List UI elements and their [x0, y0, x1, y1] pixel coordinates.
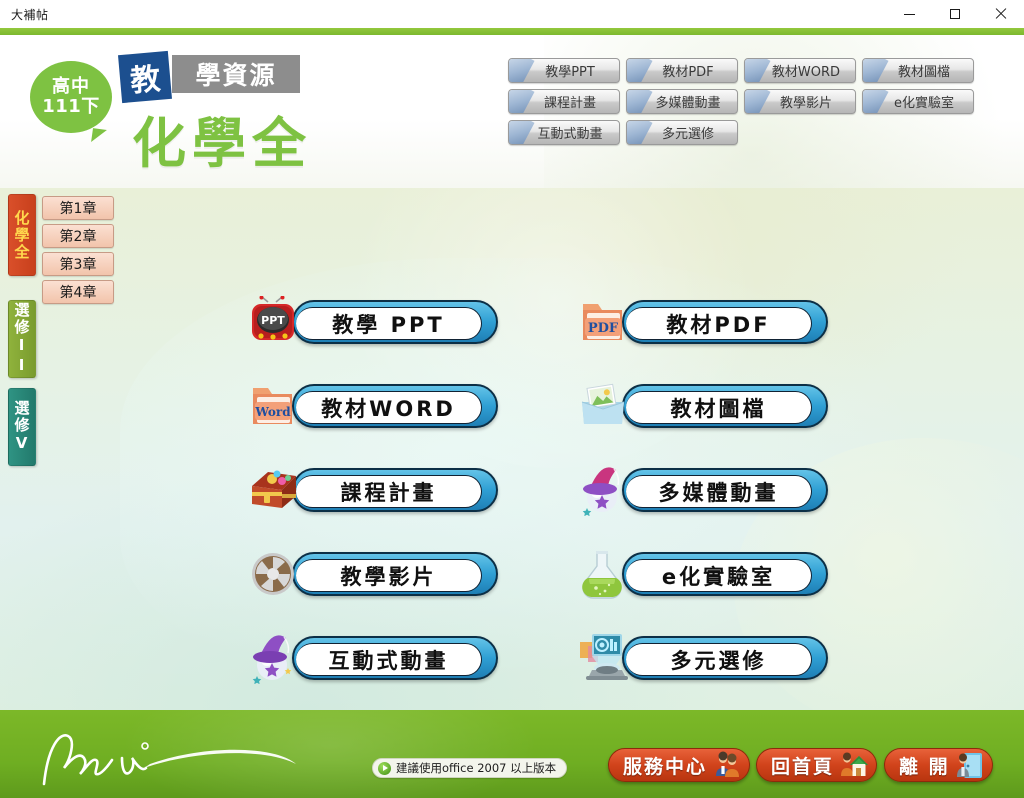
quicklink-toolbar: 教學PPT 教材PDF 教材WORD 教材圖檔 課程計畫 多媒體動畫 教學影片 … — [508, 58, 1008, 151]
close-icon — [995, 8, 1007, 20]
menu-item-e-lab[interactable]: e化實驗室 — [578, 548, 828, 600]
menu-column-right: PDF 教材PDF — [578, 296, 828, 710]
menu-item-teaching-ppt[interactable]: PPT 教學 PPT — [248, 296, 498, 348]
menu-item-course-plan[interactable]: 課程計畫 — [248, 464, 498, 516]
menu-pill-inner: 教材WORD — [296, 391, 482, 424]
application-window: 大補帖 高中 111下 教 學資源 化學全 教學PPT 教材PDF 教材WORD… — [0, 0, 1024, 798]
menu-pill-inner: 課程計畫 — [296, 475, 482, 508]
menu-pill[interactable]: 課程計畫 — [292, 468, 498, 512]
sidebar-tab-chemistry-full[interactable]: 化學全 — [8, 194, 36, 276]
menu-label: 教學 PPT — [332, 309, 444, 339]
menu-label: 多元選修 — [671, 645, 767, 675]
maximize-button[interactable] — [932, 0, 978, 28]
wizard-hat-icon — [578, 464, 636, 516]
office-version-note: 建議使用office 2007 以上版本 — [372, 758, 567, 778]
menu-pill-inner: 互動式動畫 — [296, 643, 482, 676]
exit-button[interactable]: 離 開 — [884, 748, 993, 782]
image-folder-icon — [578, 380, 636, 432]
teaching-mark-icon: 教 — [118, 51, 172, 103]
svg-text:PDF: PDF — [588, 321, 619, 336]
wizard-hat-icon — [248, 632, 306, 684]
chapter-button-4[interactable]: 第4章 — [42, 280, 114, 304]
menu-label: 多媒體動畫 — [659, 477, 779, 507]
quicklink-label: 多媒體動畫 — [655, 92, 720, 111]
product-logo: 高中 111下 教 學資源 化學全 — [22, 43, 322, 183]
menu-label: 教材圖檔 — [671, 393, 767, 423]
quicklink-label: e化實驗室 — [894, 92, 954, 111]
service-center-label: 服務中心 — [623, 752, 707, 779]
sidebar-tab-elective-5[interactable]: 選修V — [8, 388, 36, 466]
pencil-icon — [862, 58, 889, 83]
page-title: 化學全 — [132, 99, 312, 178]
menu-pill[interactable]: 教材WORD — [292, 384, 498, 428]
menu-pill[interactable]: e化實驗室 — [622, 552, 828, 596]
window-title: 大補帖 — [11, 6, 49, 23]
page-header: 高中 111下 教 學資源 化學全 教學PPT 教材PDF 教材WORD 教材圖… — [0, 35, 1024, 188]
house-icon — [840, 751, 868, 779]
home-label: 回首頁 — [771, 752, 834, 779]
quicklink-label: 教學PPT — [545, 61, 595, 80]
service-center-button[interactable]: 服務中心 — [608, 748, 750, 782]
pencil-icon — [508, 89, 535, 114]
hologram-monitor-icon — [578, 632, 636, 684]
quicklink-label: 教材PDF — [662, 61, 713, 80]
menu-pill-inner: 教學 PPT — [296, 307, 482, 340]
menu-pill[interactable]: 教材圖檔 — [622, 384, 828, 428]
film-reel-icon — [248, 548, 306, 600]
close-button[interactable] — [978, 0, 1024, 28]
pencil-icon — [744, 58, 771, 83]
quicklink-label: 教材圖檔 — [898, 61, 950, 80]
quicklink-material-word[interactable]: 教材WORD — [744, 58, 856, 83]
content-area: 化學全 選修II 選修V 第1章 第2章 第3章 第4章 — [0, 188, 1024, 710]
menu-item-elective[interactable]: 多元選修 — [578, 632, 828, 684]
menu-item-interactive-animation[interactable]: 互動式動畫 — [248, 632, 498, 684]
menu-pill[interactable]: 教學影片 — [292, 552, 498, 596]
pencil-icon — [508, 58, 535, 83]
quicklink-course-plan[interactable]: 課程計畫 — [508, 89, 620, 114]
grade-badge-line1: 高中 — [52, 78, 90, 97]
quicklink-interactive-animation[interactable]: 互動式動畫 — [508, 120, 620, 145]
pencil-icon — [626, 89, 653, 114]
pencil-icon — [508, 120, 535, 145]
grade-badge-line2: 111下 — [42, 98, 100, 117]
home-button[interactable]: 回首頁 — [756, 748, 877, 782]
pencil-icon — [626, 58, 653, 83]
menu-item-teaching-video[interactable]: 教學影片 — [248, 548, 498, 600]
title-bar: 大補帖 — [0, 0, 1024, 28]
pencil-icon — [744, 89, 771, 114]
quicklink-row: 教學PPT 教材PDF 教材WORD 教材圖檔 — [508, 58, 1008, 83]
quicklink-row: 課程計畫 多媒體動畫 教學影片 e化實驗室 — [508, 89, 1008, 114]
menu-item-material-images[interactable]: 教材圖檔 — [578, 380, 828, 432]
publisher-logo — [26, 724, 326, 788]
svg-text:Word: Word — [254, 405, 291, 419]
quicklink-row: 互動式動畫 多元選修 — [508, 120, 1008, 145]
menu-pill-inner: 教學影片 — [296, 559, 482, 592]
quicklink-label: 互動式動畫 — [537, 123, 602, 142]
resource-label: 學資源 — [172, 55, 300, 93]
menu-label: 互動式動畫 — [329, 645, 449, 675]
quicklink-teaching-ppt[interactable]: 教學PPT — [508, 58, 620, 83]
quicklink-label: 教材WORD — [772, 61, 840, 80]
menu-pill[interactable]: 互動式動畫 — [292, 636, 498, 680]
ppt-tv-icon: PPT — [248, 296, 306, 348]
exit-door-icon — [956, 751, 984, 779]
chapter-list: 第1章 第2章 第3章 第4章 — [42, 196, 114, 308]
svg-text:PPT: PPT — [261, 314, 285, 327]
pdf-folder-icon: PDF — [578, 296, 636, 348]
menu-label: 教學影片 — [341, 561, 437, 591]
chapter-button-3[interactable]: 第3章 — [42, 252, 114, 276]
menu-label: 課程計畫 — [341, 477, 437, 507]
people-icon — [713, 751, 741, 779]
play-icon — [378, 762, 391, 775]
menu-pill-inner: 教材圖檔 — [626, 391, 812, 424]
grade-badge: 高中 111下 — [30, 61, 112, 133]
menu-pill-inner: 教材PDF — [626, 307, 812, 340]
menu-pill-inner: e化實驗室 — [626, 559, 812, 592]
chapter-button-2[interactable]: 第2章 — [42, 224, 114, 248]
minimize-button[interactable] — [886, 0, 932, 28]
menu-pill[interactable]: 多元選修 — [622, 636, 828, 680]
menu-item-material-word[interactable]: Word 教材WORD — [248, 380, 498, 432]
maximize-icon — [950, 9, 960, 19]
menu-pill[interactable]: 教材PDF — [622, 300, 828, 344]
menu-label: 教材PDF — [666, 309, 770, 339]
quicklink-material-images[interactable]: 教材圖檔 — [862, 58, 974, 83]
treasure-chest-icon — [248, 464, 306, 516]
window-controls — [886, 0, 1024, 28]
word-folder-icon: Word — [248, 380, 306, 432]
quicklink-teaching-video[interactable]: 教學影片 — [744, 89, 856, 114]
exit-label: 離 開 — [899, 752, 950, 779]
menu-pill-inner: 多媒體動畫 — [626, 475, 812, 508]
chapter-button-1[interactable]: 第1章 — [42, 196, 114, 220]
quicklink-label: 多元選修 — [662, 123, 714, 142]
pencil-icon — [626, 120, 653, 145]
quicklink-material-pdf[interactable]: 教材PDF — [626, 58, 738, 83]
quicklink-multimedia-animation[interactable]: 多媒體動畫 — [626, 89, 738, 114]
menu-pill-inner: 多元選修 — [626, 643, 812, 676]
menu-pill[interactable]: 多媒體動畫 — [622, 468, 828, 512]
office-note-text: 建議使用office 2007 以上版本 — [396, 760, 556, 776]
sidebar-tab-elective-2[interactable]: 選修II — [8, 300, 36, 378]
pencil-icon — [862, 89, 889, 114]
quicklink-label: 教學影片 — [780, 92, 832, 111]
menu-column-left: PPT 教學 PPT Word — [248, 296, 498, 710]
flask-icon — [578, 548, 636, 600]
sidebar: 化學全 選修II 選修V 第1章 第2章 第3章 第4章 — [0, 188, 120, 710]
minimize-icon — [904, 14, 915, 15]
menu-item-material-pdf[interactable]: PDF 教材PDF — [578, 296, 828, 348]
menu-label: e化實驗室 — [662, 561, 775, 591]
quicklink-elective[interactable]: 多元選修 — [626, 120, 738, 145]
quicklink-label: 課程計畫 — [544, 92, 596, 111]
menu-label: 教材WORD — [321, 393, 456, 423]
quicklink-e-lab[interactable]: e化實驗室 — [862, 89, 974, 114]
menu-item-multimedia-animation[interactable]: 多媒體動畫 — [578, 464, 828, 516]
header-accent-rule — [0, 28, 1024, 35]
menu-pill[interactable]: 教學 PPT — [292, 300, 498, 344]
